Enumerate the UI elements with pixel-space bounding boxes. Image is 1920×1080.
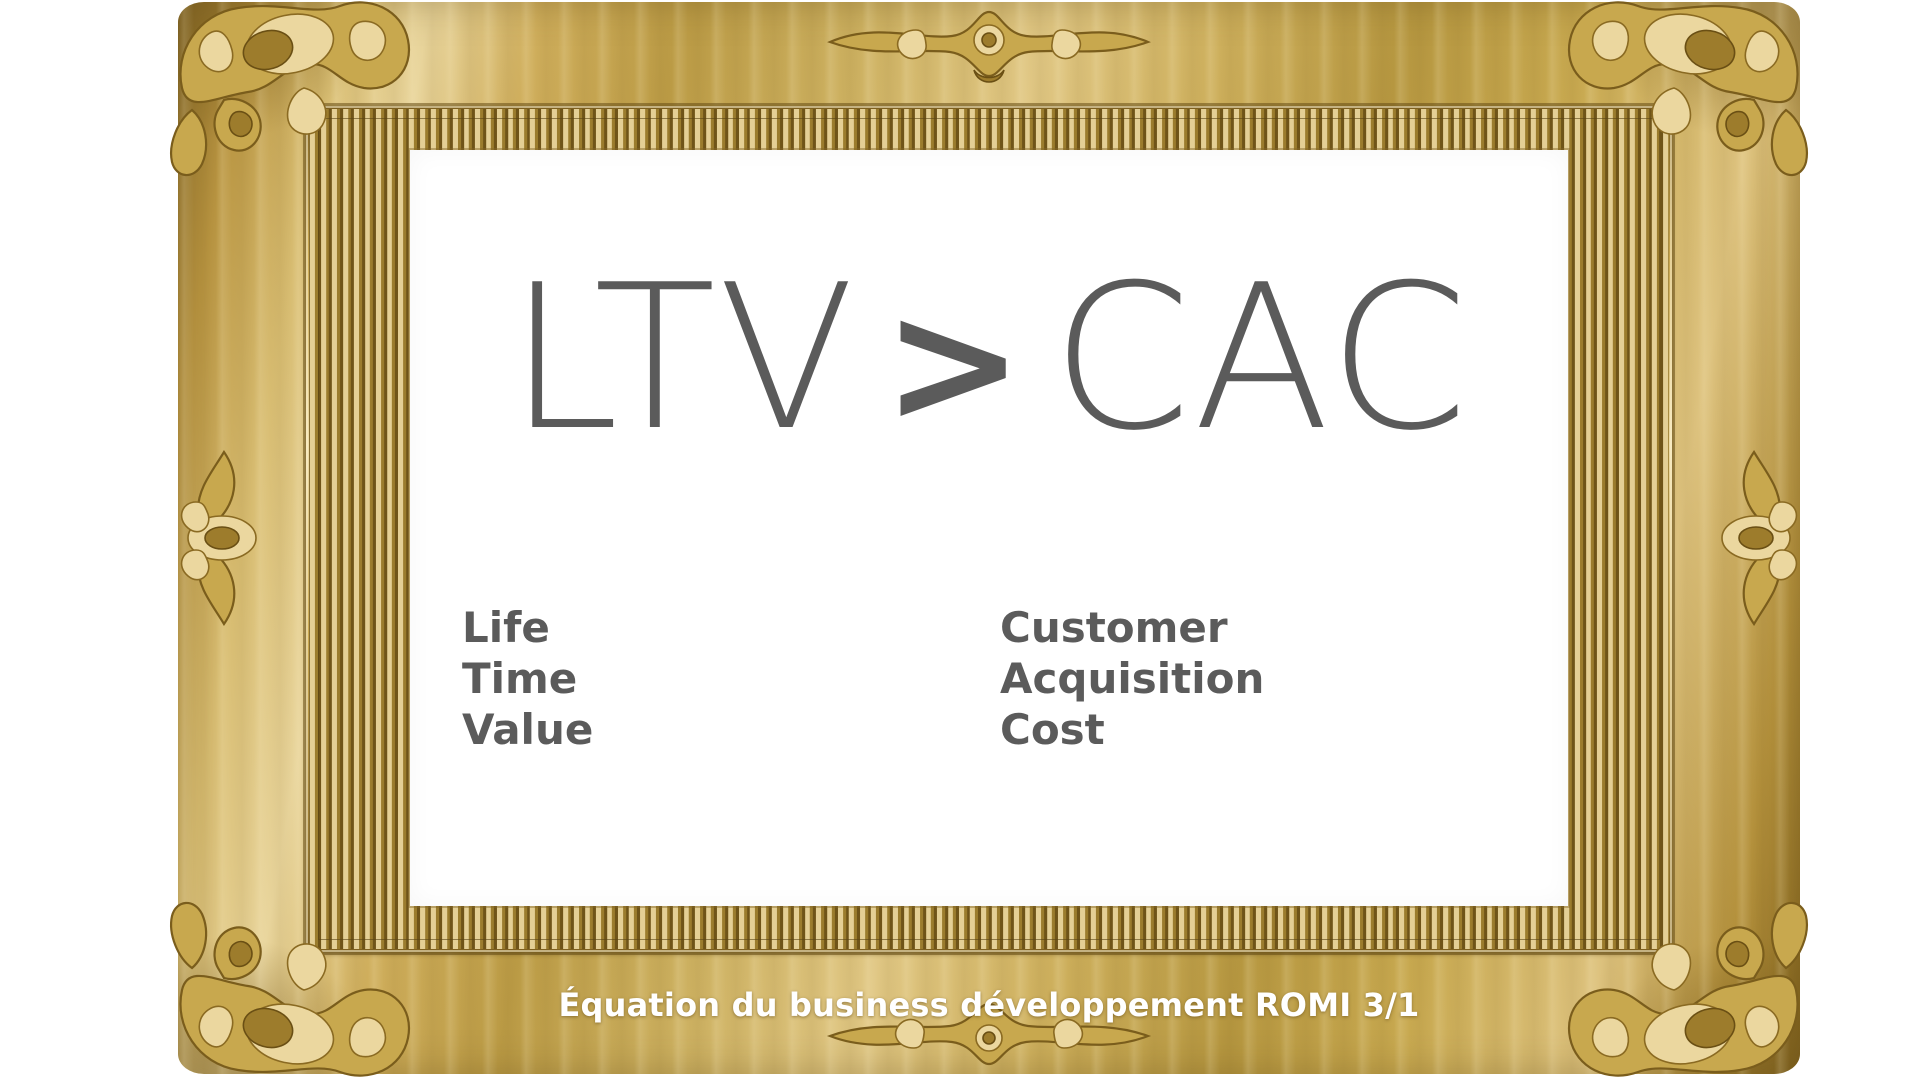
headline-right-term: CAC [1052, 242, 1471, 475]
legend-ltv-expansion: Life Time Value [462, 602, 593, 756]
legend-cac-line-1: Customer [1000, 602, 1264, 653]
legend-ltv-line-3: Value [462, 704, 593, 755]
greater-than-operator-icon: > [857, 265, 1052, 461]
headline-left-term: LTV [508, 242, 857, 475]
legend-cac-line-3: Cost [1000, 704, 1264, 755]
legend-row: Life Time Value Customer Acquisition Cos… [410, 602, 1568, 772]
legend-cac-line-2: Acquisition [1000, 653, 1264, 704]
slide-white-canvas: LTV>CAC Life Time Value Customer Acquisi… [410, 150, 1568, 906]
legend-ltv-line-1: Life [462, 602, 593, 653]
legend-cac-expansion: Customer Acquisition Cost [1000, 602, 1264, 756]
slide-caption: Équation du business développement ROMI … [178, 986, 1800, 1024]
page-title: LTV>CAC [410, 254, 1568, 464]
legend-ltv-line-2: Time [462, 653, 593, 704]
gold-picture-frame: LTV>CAC Life Time Value Customer Acquisi… [178, 2, 1800, 1074]
slide-canvas: LTV>CAC Life Time Value Customer Acquisi… [0, 0, 1920, 1080]
